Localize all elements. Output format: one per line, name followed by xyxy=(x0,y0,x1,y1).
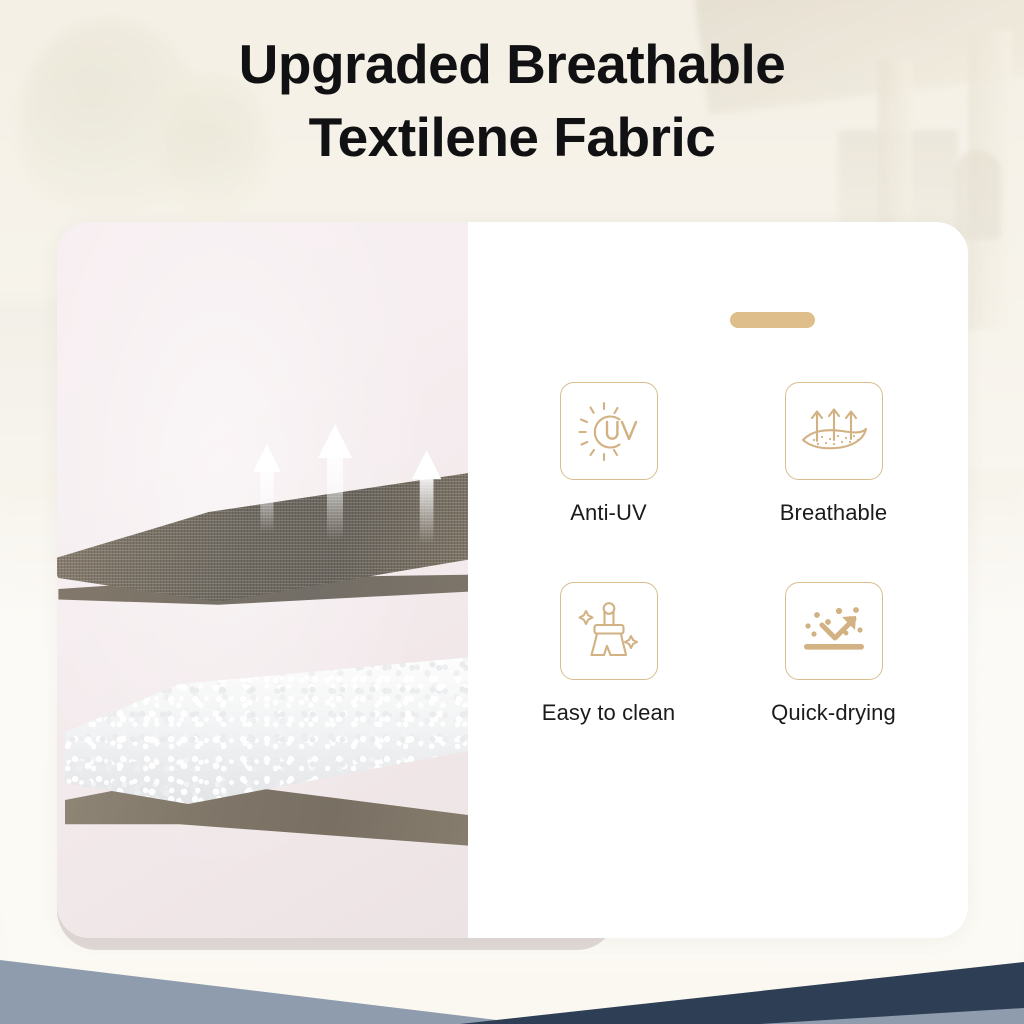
anti-uv-icon-box xyxy=(560,382,658,480)
feature-item-quick-drying[interactable]: Quick-drying xyxy=(721,582,946,726)
cleaning-brush-sparkle-icon xyxy=(574,596,644,666)
quick-drying-arrow-icon xyxy=(798,600,870,662)
breathable-fabric-airflow-icon xyxy=(798,398,870,464)
quick-drying-icon-box xyxy=(785,582,883,680)
band-light-blue-shape xyxy=(0,960,530,1024)
feature-item-anti-uv[interactable]: Anti-UV xyxy=(496,382,721,526)
feature-label: Anti-UV xyxy=(570,500,647,526)
feature-label: Easy to clean xyxy=(542,700,675,726)
feature-item-easy-to-clean[interactable]: Easy to clean xyxy=(496,582,721,726)
feature-item-breathable[interactable]: Breathable xyxy=(721,382,946,526)
features-panel: Anti-UV xyxy=(468,222,968,938)
page-title: Upgraded Breathable Textilene Fabric xyxy=(0,28,1024,173)
anti-uv-sun-icon xyxy=(573,395,645,467)
title-line-1: Upgraded Breathable xyxy=(239,33,786,95)
gold-accent-bar xyxy=(730,312,815,328)
bottom-decorative-band xyxy=(0,904,1024,1024)
marketing-banner: Upgraded Breathable Textilene Fabric xyxy=(0,0,1024,1024)
feature-label: Breathable xyxy=(780,500,887,526)
feature-label: Quick-drying xyxy=(771,700,896,726)
breathable-icon-box xyxy=(785,382,883,480)
feature-card: Anti-UV xyxy=(57,222,968,938)
easy-to-clean-icon-box xyxy=(560,582,658,680)
product-image-panel xyxy=(57,222,468,938)
feature-grid: Anti-UV xyxy=(496,382,946,726)
cushion-layers-illustration xyxy=(57,222,468,938)
title-line-2: Textilene Fabric xyxy=(0,101,1024,174)
